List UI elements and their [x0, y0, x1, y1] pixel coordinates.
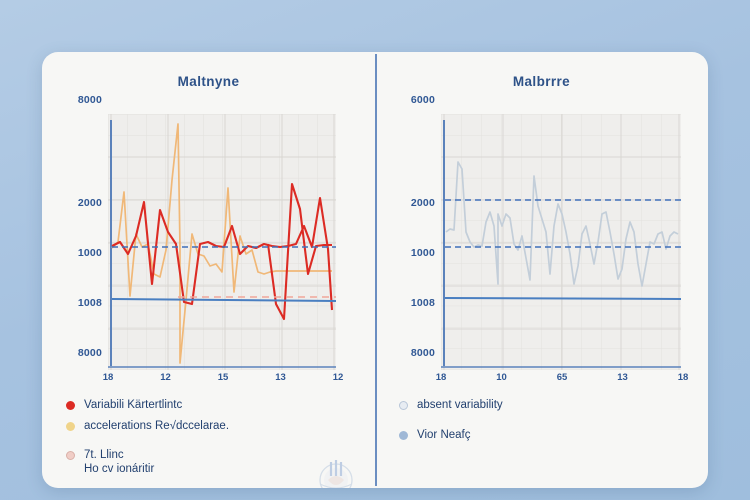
left-y-label-3: 1008: [60, 297, 102, 309]
right-chart-plot-area: [441, 114, 681, 370]
left-x-axis-labels: 18 12 15 13 12: [98, 372, 348, 386]
legend-label-vior-neafc: Vior Neafç: [417, 428, 470, 442]
right-chart-legend: absent variability Vior Neafç: [399, 398, 503, 450]
legend-label-threshold-line2: Ho cv ionáritir: [84, 462, 154, 476]
left-x-label-3: 13: [271, 372, 291, 386]
right-x-label-2: 65: [552, 372, 572, 386]
legend-label-threshold: 7t. Llinc Ho cv ionáritir: [84, 448, 154, 477]
left-x-label-4: 12: [328, 372, 348, 386]
charts-card: Maltnyne 8000 2000 1000 1008 8000: [42, 52, 708, 488]
right-chart-panel: Malbrrre 6000 2000 1000 1008 8000: [375, 52, 708, 488]
left-chart-legend: Variabili Kärtertlintc accelerations Re√…: [66, 398, 229, 484]
right-x-axis-labels: 18 10 65 13 18: [431, 372, 693, 386]
legend-label-accelerations: accelerations Re√dccelarae.: [84, 419, 229, 433]
legend-item-accelerations[interactable]: accelerations Re√dccelarae.: [66, 419, 229, 433]
legend-item-threshold[interactable]: 7t. Llinc Ho cv ionáritir: [66, 448, 229, 477]
legend-label-variability: Variabili Kärtertlintc: [84, 398, 182, 412]
left-plot-grid: [108, 114, 336, 370]
right-x-label-1: 10: [492, 372, 512, 386]
right-y-label-0: 6000: [393, 94, 435, 106]
left-panel-title: Maltnyne: [42, 74, 375, 89]
right-baseline-blue: [445, 298, 681, 299]
left-x-label-0: 18: [98, 372, 118, 386]
legend-item-absent-variability[interactable]: absent variability: [399, 398, 503, 412]
legend-dot-grey-icon: [399, 401, 408, 410]
legend-label-threshold-line1: 7t. Llinc: [84, 448, 154, 462]
left-x-label-2: 15: [213, 372, 233, 386]
legend-dot-yellow-icon: [66, 422, 75, 431]
left-y-label-0: 8000: [60, 94, 102, 106]
right-y-label-3: 1008: [393, 297, 435, 309]
legend-dot-pink-icon: [66, 451, 75, 460]
left-chart-svg: [108, 114, 336, 370]
legend-dot-blue-icon: [399, 431, 408, 440]
right-chart-svg: [441, 114, 681, 370]
right-x-label-0: 18: [431, 372, 451, 386]
left-y-label-1: 2000: [60, 197, 102, 209]
panel-divider: [375, 54, 377, 486]
left-y-label-4: 8000: [60, 347, 102, 359]
circular-emblem-watermark-icon: [310, 454, 362, 488]
right-y-label-1: 2000: [393, 197, 435, 209]
left-chart-plot-area: [108, 114, 336, 370]
left-chart-panel: Maltnyne 8000 2000 1000 1008 8000: [42, 52, 375, 488]
legend-item-vior-neafc[interactable]: Vior Neafç: [399, 428, 503, 442]
left-y-label-2: 1000: [60, 247, 102, 259]
right-x-label-4: 18: [673, 372, 693, 386]
right-panel-title: Malbrrre: [375, 74, 708, 89]
legend-label-absent-variability: absent variability: [417, 398, 503, 412]
legend-item-variability[interactable]: Variabili Kärtertlintc: [66, 398, 229, 412]
right-plot-grid: [441, 114, 681, 370]
right-y-label-2: 1000: [393, 247, 435, 259]
legend-dot-red-icon: [66, 401, 75, 410]
right-y-label-4: 8000: [393, 347, 435, 359]
right-x-label-3: 13: [613, 372, 633, 386]
left-x-label-1: 12: [156, 372, 176, 386]
